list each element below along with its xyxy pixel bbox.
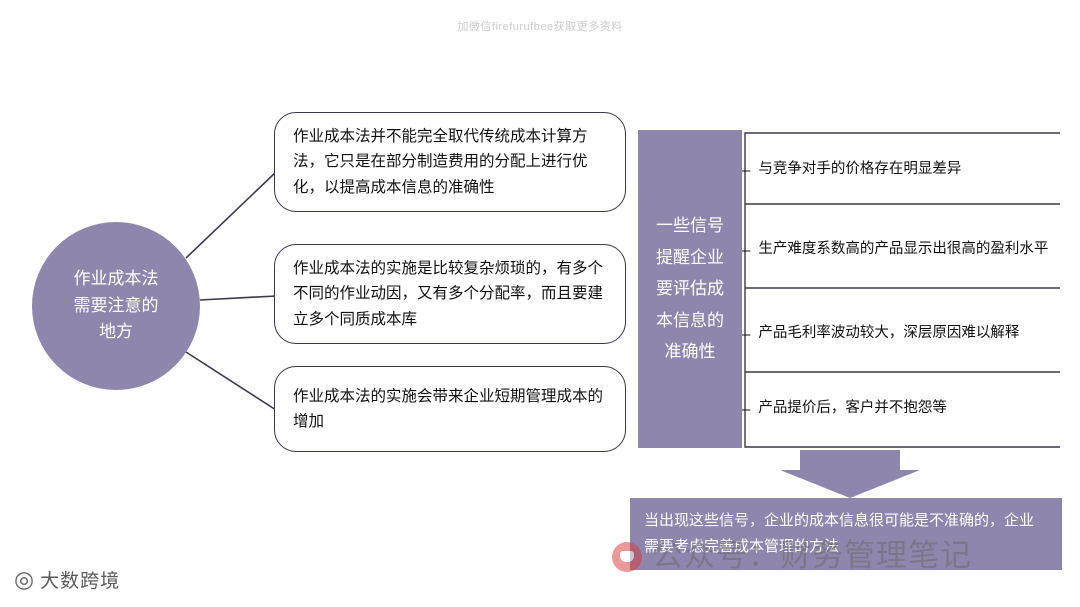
signal-item-3-text: 产品毛利率波动较大，深层原因难以解释 bbox=[758, 322, 1019, 346]
note-card-2: 作业成本法的实施是比较复杂烦琐的，有多个不同的作业动因，又有多个分配率，而且要建… bbox=[274, 244, 626, 344]
dash-marker: – bbox=[742, 327, 750, 342]
signal-bar: 一些信号 提醒企业 要评估成 本信息的 准确性 bbox=[638, 130, 742, 448]
bottom-watermark: 公众号：财务管理笔记 bbox=[612, 530, 972, 575]
signal-bar-label: 一些信号 提醒企业 要评估成 本信息的 准确性 bbox=[656, 210, 724, 367]
signal-item-3: – 产品毛利率波动较大，深层原因难以解释 bbox=[742, 296, 1062, 372]
site-logo-watermark: ◎ 大数跨境 bbox=[14, 566, 120, 593]
bottom-watermark-text: 公众号：财务管理笔记 bbox=[652, 538, 972, 573]
signal-item-2-text: 生产难度系数高的产品显示出很高的盈利水平 bbox=[758, 238, 1048, 262]
note-card-1: 作业成本法并不能完全取代传统成本计算方法，它只是在部分制造费用的分配上进行优化，… bbox=[274, 112, 626, 212]
root-node-label: 作业成本法 需要注意的 地方 bbox=[74, 266, 159, 345]
signal-item-4-text: 产品提价后，客户并不抱怨等 bbox=[758, 397, 947, 421]
wechat-badge-icon bbox=[612, 542, 642, 572]
signal-item-1: – 与竞争对手的价格存在明显差异 bbox=[742, 136, 1062, 204]
signal-item-1-text: 与竞争对手的价格存在明显差异 bbox=[758, 158, 961, 182]
logo-mark-icon: ◎ bbox=[14, 568, 34, 591]
signal-item-2: – 生产难度系数高的产品显示出很高的盈利水平 bbox=[742, 208, 1062, 292]
note-card-3: 作业成本法的实施会带来企业短期管理成本的增加 bbox=[274, 366, 626, 452]
note-card-2-text: 作业成本法的实施是比较复杂烦琐的，有多个不同的作业动因，又有多个分配率，而且要建… bbox=[293, 256, 607, 331]
note-card-3-text: 作业成本法的实施会带来企业短期管理成本的增加 bbox=[293, 384, 607, 434]
note-card-1-text: 作业成本法并不能完全取代传统成本计算方法，它只是在部分制造费用的分配上进行优化，… bbox=[293, 124, 607, 199]
root-node: 作业成本法 需要注意的 地方 bbox=[32, 222, 200, 390]
signal-list: – 与竞争对手的价格存在明显差异 – 生产难度系数高的产品显示出很高的盈利水平 … bbox=[742, 130, 1062, 448]
dash-marker: – bbox=[742, 243, 750, 258]
dash-marker: – bbox=[742, 163, 750, 178]
dash-marker: – bbox=[742, 402, 750, 417]
signal-item-4: – 产品提价后，客户并不抱怨等 bbox=[742, 376, 1062, 442]
top-watermark: 加微信firefurufbee获取更多资料 bbox=[0, 18, 1080, 34]
logo-text: 大数跨境 bbox=[40, 566, 120, 593]
